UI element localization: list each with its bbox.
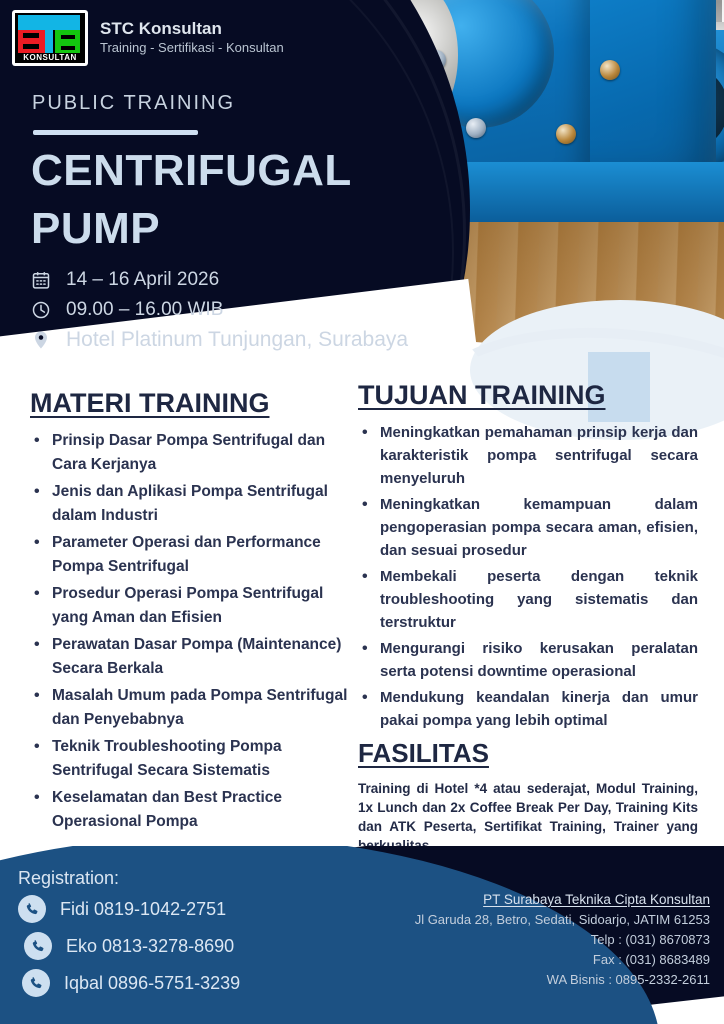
tujuan-column: TUJUAN TRAINING Meningkatkan pemahaman p… [358, 380, 698, 855]
pump-bolt [466, 118, 486, 138]
materi-heading: MATERI TRAINING [30, 388, 350, 419]
company-telp: Telp : (031) 8670873 [415, 930, 710, 950]
fasilitas-text: Training di Hotel *4 atau sederajat, Mod… [358, 779, 698, 855]
materi-list: Prinsip Dasar Pompa Sentrifugal dan Cara… [30, 429, 350, 834]
company-name: PT Surabaya Teknika Cipta Konsultan [415, 890, 710, 910]
event-date: 14 – 16 April 2026 [66, 269, 219, 291]
list-item: Masalah Umum pada Pompa Sentrifugal dan … [30, 684, 350, 732]
pump-bolt [556, 124, 576, 144]
calendar-icon [30, 268, 52, 292]
brand-logo-block: KONSULTAN STC Konsultan Training - Serti… [12, 10, 284, 66]
list-item: Keselamatan dan Best Practice Operasiona… [30, 786, 350, 834]
phone-icon [18, 895, 46, 923]
brand-tagline: Training - Sertifikasi - Konsultan [100, 39, 284, 57]
phone-icon [24, 932, 52, 960]
contact-text: Eko 0813-3278-8690 [66, 936, 234, 957]
materi-column: MATERI TRAINING Prinsip Dasar Pompa Sent… [30, 388, 350, 837]
contact-text: Iqbal 0896-5751-3239 [64, 973, 240, 994]
list-item: Meningkatkan kemampuan dalam pengoperasi… [358, 493, 698, 562]
list-item: Parameter Operasi dan Performance Pompa … [30, 531, 350, 579]
list-item: Teknik Troubleshooting Pompa Sentrifugal… [30, 735, 350, 783]
registration-title: Registration: [18, 868, 240, 889]
list-item: Jenis dan Aplikasi Pompa Sentrifugal dal… [30, 480, 350, 528]
page-title: CENTRIFUGAL PUMP [31, 142, 352, 258]
location-pin-icon [30, 328, 52, 352]
list-item: Perawatan Dasar Pompa (Maintenance) Seca… [30, 633, 350, 681]
registration-block: Registration: Fidi 0819-1042-2751 Eko 08… [18, 868, 240, 1006]
event-date-row: 14 – 16 April 2026 [30, 268, 408, 292]
kicker-public-training: PUBLIC TRAINING [32, 92, 235, 115]
clock-icon [30, 298, 52, 322]
list-item: Prinsip Dasar Pompa Sentrifugal dan Cara… [30, 429, 350, 477]
contact-text: Fidi 0819-1042-2751 [60, 899, 226, 920]
tujuan-list: Meningkatkan pemahaman prinsip kerja dan… [358, 421, 698, 732]
event-venue-row: Hotel Platinum Tunjungan, Surabaya [30, 328, 408, 352]
list-item: Meningkatkan pemahaman prinsip kerja dan… [358, 421, 698, 490]
title-divider [33, 130, 198, 135]
event-details: 14 – 16 April 2026 09.00 – 16.00 WIB [30, 268, 408, 352]
contact-row[interactable]: Eko 0813-3278-8690 [18, 932, 240, 960]
event-time-row: 09.00 – 16.00 WIB [30, 298, 408, 322]
stc-logo-icon: KONSULTAN [12, 10, 88, 66]
poster: KONSULTAN STC Konsultan Training - Serti… [0, 0, 724, 1024]
phone-icon [22, 969, 50, 997]
event-time: 09.00 – 16.00 WIB [66, 299, 223, 321]
pump-bolt [600, 60, 620, 80]
contact-row[interactable]: Fidi 0819-1042-2751 [18, 895, 240, 923]
footer-section: Registration: Fidi 0819-1042-2751 Eko 08… [0, 846, 724, 1024]
logo-wordmark: KONSULTAN [15, 53, 85, 63]
content-section: MATERI TRAINING Prinsip Dasar Pompa Sent… [0, 380, 724, 880]
tujuan-heading: TUJUAN TRAINING [358, 380, 698, 411]
contact-row[interactable]: Iqbal 0896-5751-3239 [18, 969, 240, 997]
list-item: Membekali peserta dengan teknik troubles… [358, 565, 698, 634]
list-item: Prosedur Operasi Pompa Sentrifugal yang … [30, 582, 350, 630]
list-item: Mendukung keandalan kinerja dan umur pak… [358, 686, 698, 732]
company-address: Jl Garuda 28, Betro, Sedati, Sidoarjo, J… [415, 910, 710, 930]
company-info: PT Surabaya Teknika Cipta Konsultan Jl G… [415, 890, 710, 990]
title-line-2: PUMP [31, 200, 352, 258]
event-venue: Hotel Platinum Tunjungan, Surabaya [66, 328, 408, 352]
company-fax: Fax : (031) 8683489 [415, 950, 710, 970]
title-line-1: CENTRIFUGAL [31, 146, 352, 195]
list-item: Mengurangi risiko kerusakan peralatan se… [358, 637, 698, 683]
fasilitas-heading: FASILITAS [358, 738, 698, 769]
brand-name: STC Konsultan [100, 19, 284, 39]
company-wa: WA Bisnis : 0895-2332-2611 [415, 970, 710, 990]
